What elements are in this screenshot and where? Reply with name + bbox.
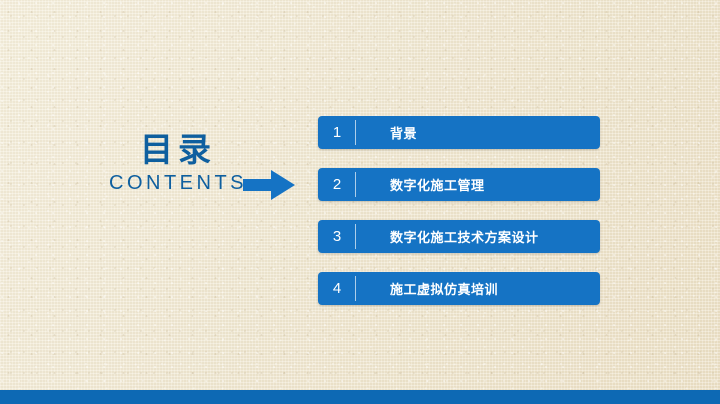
presentation-slide: 目录 CONTENTS 1 背景 2 数字化施工管理 3 数字化施工技术方案设计… [0, 0, 720, 404]
list-item[interactable]: 4 施工虚拟仿真培训 [318, 272, 600, 305]
list-item-number: 3 [318, 220, 356, 253]
list-item-label: 数字化施工技术方案设计 [356, 220, 600, 253]
list-item-number: 2 [318, 168, 356, 201]
list-item[interactable]: 2 数字化施工管理 [318, 168, 600, 201]
list-item[interactable]: 1 背景 [318, 116, 600, 149]
list-item-label: 施工虚拟仿真培训 [356, 272, 600, 305]
contents-list: 1 背景 2 数字化施工管理 3 数字化施工技术方案设计 4 施工虚拟仿真培训 [318, 116, 600, 305]
list-item-label: 数字化施工管理 [356, 168, 600, 201]
right-arrow-icon [243, 170, 295, 200]
list-item-label: 背景 [356, 116, 600, 149]
slide-title-block: 目录 CONTENTS [88, 133, 268, 195]
page-title-chinese: 目录 [88, 133, 268, 168]
list-item-number: 1 [318, 116, 356, 149]
page-title-english: CONTENTS [88, 172, 268, 195]
list-item[interactable]: 3 数字化施工技术方案设计 [318, 220, 600, 253]
bottom-accent-bar [0, 390, 720, 404]
list-item-number: 4 [318, 272, 356, 305]
